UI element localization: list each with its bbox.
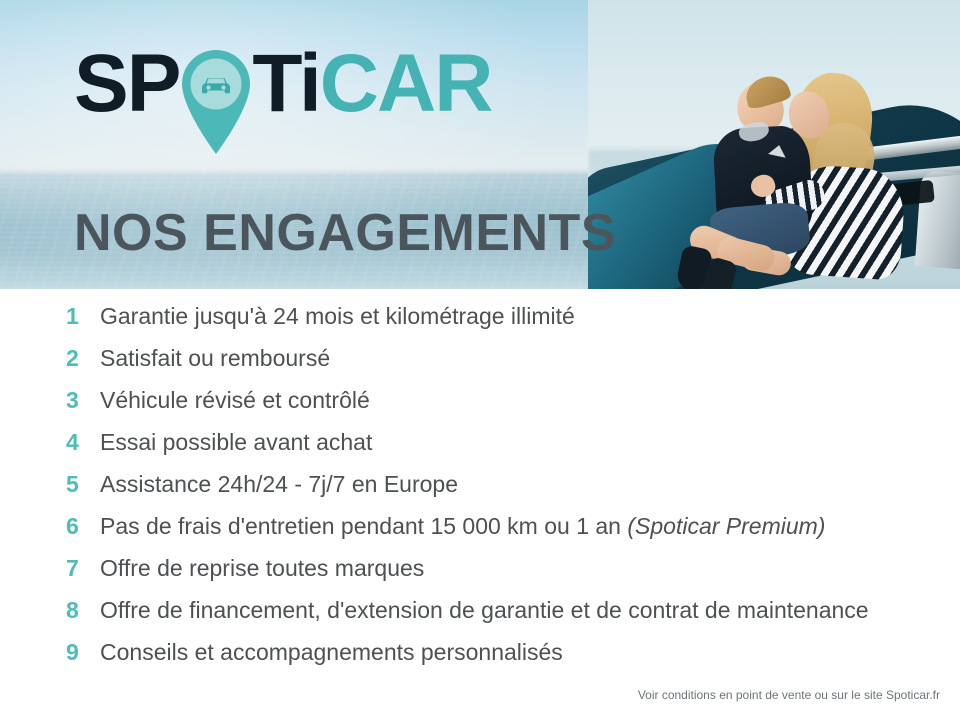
list-item-text: Véhicule révisé et contrôlé (100, 387, 370, 414)
list-item: 8 Offre de financement, d'extension de g… (0, 597, 960, 639)
spoticar-logo: SP Ti CAR (74, 43, 491, 129)
list-item-number: 2 (66, 345, 100, 372)
list-item-number: 9 (66, 639, 100, 666)
list-item: 1 Garantie jusqu'à 24 mois et kilométrag… (0, 303, 960, 345)
list-item: 5 Assistance 24h/24 - 7j/7 en Europe (0, 471, 960, 513)
list-item-number: 7 (66, 555, 100, 582)
list-item-number: 8 (66, 597, 100, 624)
family-on-car-photo (588, 0, 960, 289)
spoticar-commitments-poster: SP Ti CAR NOS ENGAGEMENTS (0, 0, 960, 720)
commitments-list: 1 Garantie jusqu'à 24 mois et kilométrag… (0, 289, 960, 720)
list-item-text: Assistance 24h/24 - 7j/7 en Europe (100, 471, 458, 498)
list-item: 6 Pas de frais d'entretien pendant 15 00… (0, 513, 960, 555)
legal-footnote: Voir conditions en point de vente ou sur… (638, 688, 940, 702)
logo-text-sp: SP (74, 43, 179, 125)
list-item-number: 1 (66, 303, 100, 330)
list-item-text: Satisfait ou remboursé (100, 345, 330, 372)
list-item: 4 Essai possible avant achat (0, 429, 960, 471)
map-pin-car-icon (177, 46, 255, 158)
list-item-number: 4 (66, 429, 100, 456)
list-item: 3 Véhicule révisé et contrôlé (0, 387, 960, 429)
list-item: 9 Conseils et accompagnements personnali… (0, 639, 960, 681)
list-item: 2 Satisfait ou remboursé (0, 345, 960, 387)
hero-banner: SP Ti CAR NOS ENGAGEMENTS (0, 0, 960, 289)
list-item-number: 5 (66, 471, 100, 498)
list-item-text: Offre de reprise toutes marques (100, 555, 424, 582)
list-item-text: Offre de financement, d'extension de gar… (100, 597, 869, 624)
list-item-number: 6 (66, 513, 100, 540)
list-item-emphasis: (Spoticar Premium) (627, 513, 825, 539)
list-item: 7 Offre de reprise toutes marques (0, 555, 960, 597)
page-title: NOS ENGAGEMENTS (74, 205, 616, 261)
people-group (683, 35, 913, 275)
list-item-text: Garantie jusqu'à 24 mois et kilométrage … (100, 303, 575, 330)
child-hair (742, 71, 792, 110)
logo-text-car: CAR (320, 43, 492, 125)
list-item-text: Essai possible avant achat (100, 429, 372, 456)
list-item-number: 3 (66, 387, 100, 414)
logo-text-ti: Ti (252, 43, 319, 125)
list-item-text: Pas de frais d'entretien pendant 15 000 … (100, 513, 825, 540)
list-item-text: Conseils et accompagnements personnalisé… (100, 639, 563, 666)
